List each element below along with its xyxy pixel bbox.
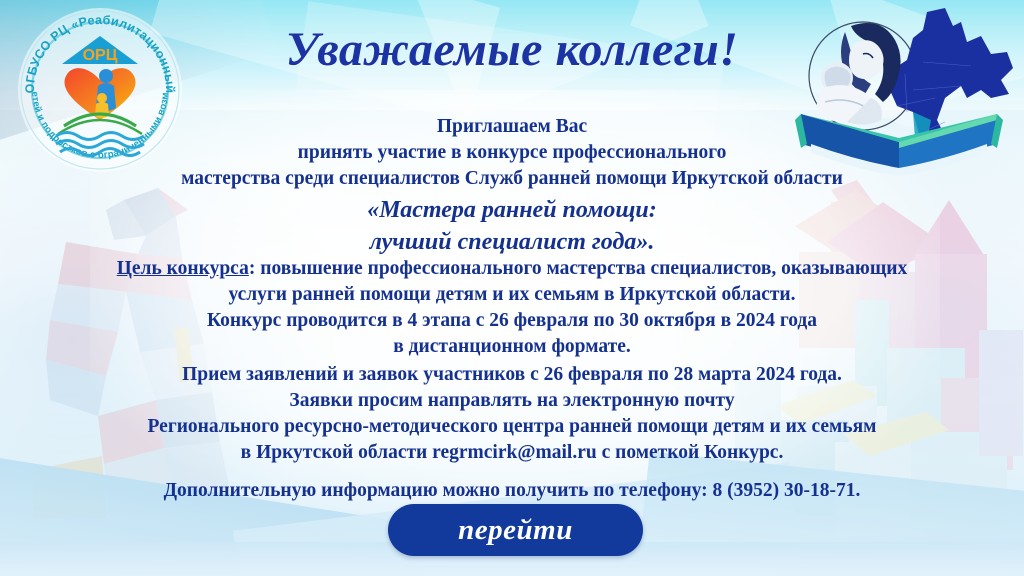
goal-line-3: Конкурс проводится в 4 этапа с 26 феврал… <box>62 308 962 334</box>
additional-info-paragraph: Дополнительную информацию можно получить… <box>62 478 962 504</box>
invitation-paragraph: Приглашаем Вас принять участие в конкурс… <box>62 114 962 192</box>
contest-name-line-2: лучший специалист года». <box>62 226 962 258</box>
invitation-line-1: Приглашаем Вас <box>62 114 962 140</box>
application-line-4-suffix: с пометкой Конкурс. <box>597 442 784 463</box>
info-prefix: Дополнительную информацию можно получить… <box>164 480 713 501</box>
application-paragraph: Прием заявлений и заявок участников с 26… <box>62 362 962 466</box>
application-line-4-prefix: в Иркутской области <box>241 442 433 463</box>
page-title: Уважаемые коллеги! <box>0 22 1024 77</box>
poster-canvas: ОГБУСО РЦ «Реабилитационный центр для де… <box>0 0 1024 576</box>
contact-email[interactable]: regrmcirk@mail.ru <box>432 442 597 463</box>
invitation-line-2: принять участие в конкурсе профессиональ… <box>62 140 962 166</box>
application-line-1-prefix: Прием заявлений и заявок участников <box>182 364 530 385</box>
goal-line-1: Цель конкурса: повышение профессионально… <box>62 256 962 282</box>
application-line-2: Заявки просим направлять на электронную … <box>62 388 962 414</box>
goal-label-suffix: : повышение профессионального мастерства… <box>249 258 907 279</box>
contest-name: «Мастера ранней помощи: лучший специалис… <box>62 194 962 258</box>
goal-label: Цель конкурса <box>117 258 249 279</box>
contact-phone[interactable]: 8 (3952) 30-18-71. <box>713 480 861 501</box>
application-dates: с 26 февраля по 28 марта 2024 года. <box>530 364 842 385</box>
goal-line-2: услуги ранней помощи детям и их семьям в… <box>62 282 962 308</box>
application-line-1: Прием заявлений и заявок участников с 26… <box>62 362 962 388</box>
application-line-4: в Иркутской области regrmcirk@mail.ru с … <box>62 440 962 466</box>
contest-name-line-1: «Мастера ранней помощи: <box>62 194 962 226</box>
goal-line-4: в дистанционном формате. <box>62 334 962 360</box>
goal-paragraph: Цель конкурса: повышение профессионально… <box>62 256 962 360</box>
go-button[interactable]: перейти <box>388 504 643 556</box>
application-line-3: Регионального ресурсно-методического цен… <box>62 414 962 440</box>
invitation-line-3: мастерства среди специалистов Служб ранн… <box>62 166 962 192</box>
